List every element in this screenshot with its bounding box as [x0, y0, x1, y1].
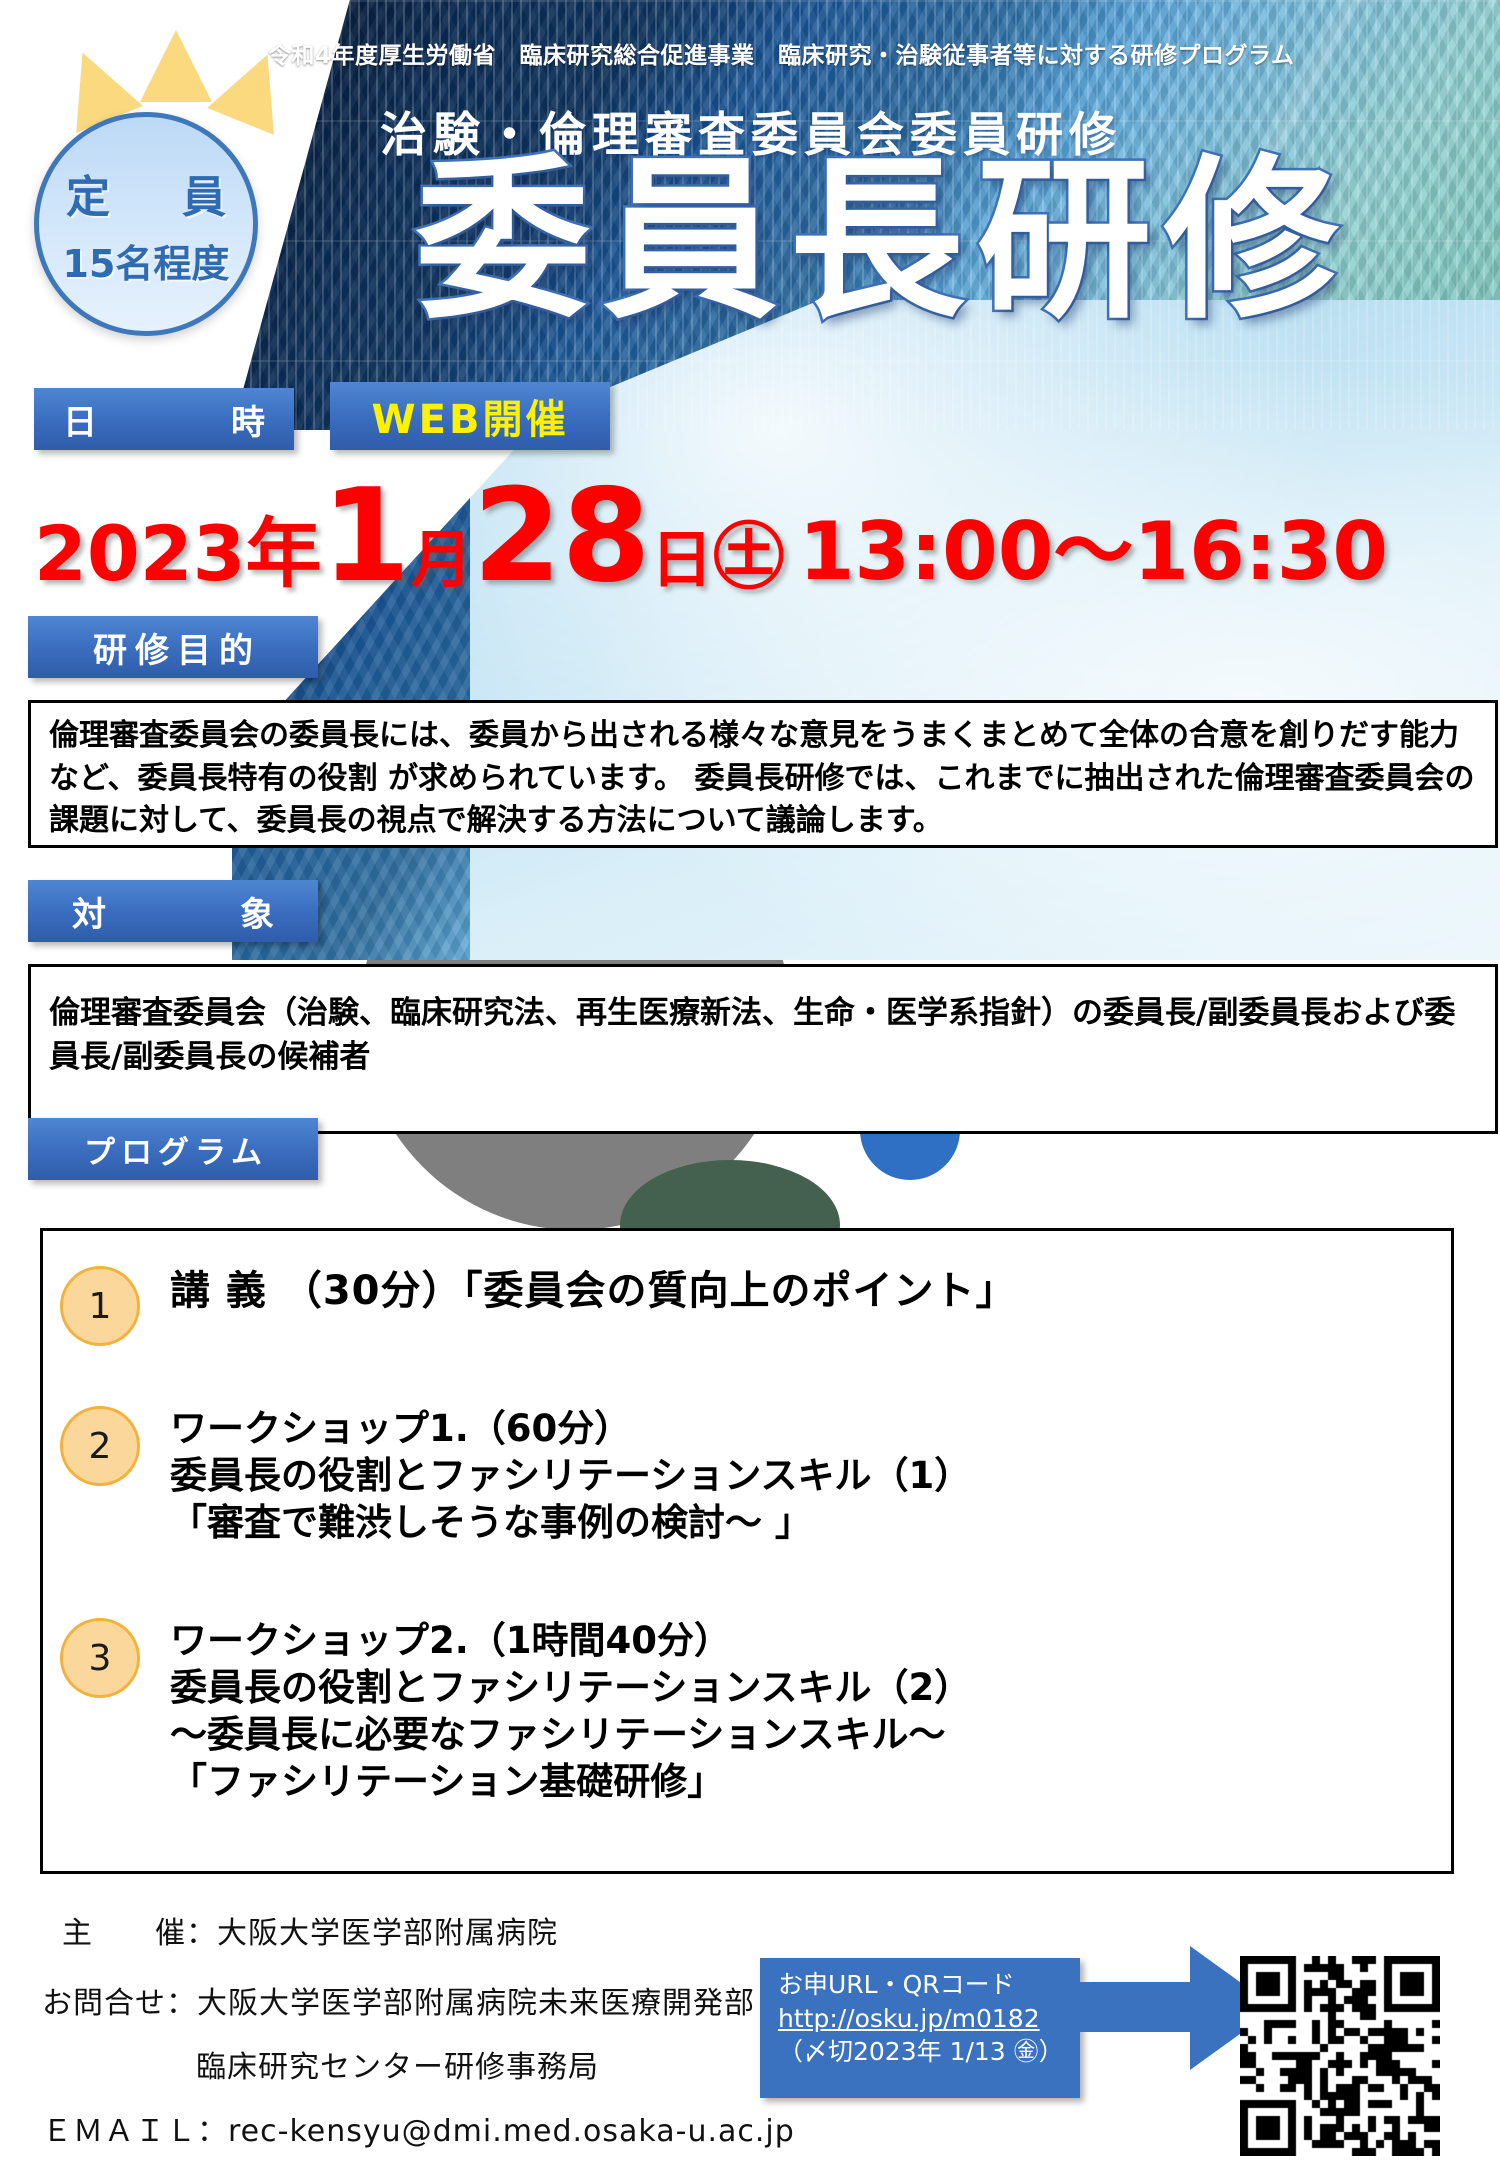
program-item-text: ワークショップ1.（60分） 委員長の役割とファシリテーションスキル（1） 「審… [170, 1406, 971, 1547]
footer-contact: お問合せ：大阪大学医学部附属病院未来医療開発部 [42, 1978, 755, 2022]
footer-email: ＥＭＡＩＬ：rec-kensyu@dmi.med.osaka-u.ac.jp [42, 2106, 795, 2150]
date-weekday: ㊏ [713, 524, 785, 590]
apply-url-heading: お申URL・QRコード [778, 1968, 1066, 2002]
date-day-number: 28 [473, 485, 651, 590]
event-time-range: 13:00〜16:30 [799, 514, 1388, 590]
program-item: 3 ワークショップ2.（1時間40分） 委員長の役割とファシリテーションスキル（… [60, 1618, 971, 1806]
poster-root: 令和4年度厚生労働省 臨床研究総合促進事業 臨床研究・治験従事者等に対する研修プ… [0, 0, 1500, 2167]
date-month-unit: 月 [411, 531, 473, 590]
program-item-number: 3 [60, 1618, 140, 1698]
program-item-text: 講 義 （30分）「委員会の質向上のポイント」 [170, 1266, 1017, 1317]
apply-deadline: （〆切2023年 1/13 ㊎） [778, 2035, 1066, 2069]
footer-contact-continued: 臨床研究センター研修事務局 [196, 2042, 599, 2086]
ray-icon-2 [140, 30, 212, 102]
program-item: 1 講 義 （30分）「委員会の質向上のポイント」 [60, 1266, 1017, 1346]
qr-code-canvas [1240, 1956, 1440, 2156]
capacity-badge-value: 15名程度 [63, 233, 230, 288]
page-title: 委員長研修 [268, 150, 1498, 334]
arrow-shaft [1080, 1982, 1200, 2032]
capacity-badge: 定 員 15名程度 [34, 112, 258, 336]
date-year: 2023年 [34, 518, 322, 590]
badge-web-format: WEB開催 [330, 382, 610, 450]
hero-sky-region [470, 300, 1500, 960]
target-text-box: 倫理審査委員会（治験、臨床研究法、再生医療新法、生命・医学系指針）の委員長/副委… [28, 964, 1498, 1134]
program-item-text: ワークショップ2.（1時間40分） 委員長の役割とファシリテーションスキル（2）… [170, 1618, 971, 1806]
date-day-unit: 日 [651, 531, 713, 590]
event-date-time: 2023年 1 月 28 日 ㊏ 13:00〜16:30 [34, 480, 1434, 590]
apply-url-box: お申URL・QRコード http://osku.jp/m0182 （〆切2023… [760, 1958, 1080, 2098]
footer-organizer: 主 催：大阪大学医学部附属病院 [62, 1908, 558, 1952]
program-item-number: 1 [60, 1266, 140, 1346]
section-chip-program: プログラム [28, 1118, 318, 1180]
apply-url-link[interactable]: http://osku.jp/m0182 [778, 2002, 1066, 2036]
date-month-number: 1 [322, 485, 411, 590]
qr-code-icon[interactable] [1240, 1956, 1440, 2156]
section-chip-datetime: 日 時 [34, 388, 294, 450]
section-chip-target: 対 象 [28, 880, 318, 942]
purpose-text-box: 倫理審査委員会の委員長には、委員から出される様々な意見をうまくまとめて全体の合意… [28, 700, 1498, 848]
section-chip-purpose: 研修目的 [28, 616, 318, 678]
program-org-line: 令和4年度厚生労働省 臨床研究総合促進事業 臨床研究・治験従事者等に対する研修プ… [268, 36, 1490, 70]
program-item: 2 ワークショップ1.（60分） 委員長の役割とファシリテーションスキル（1） … [60, 1406, 971, 1547]
capacity-badge-label: 定 員 [52, 161, 240, 225]
program-item-number: 2 [60, 1406, 140, 1486]
